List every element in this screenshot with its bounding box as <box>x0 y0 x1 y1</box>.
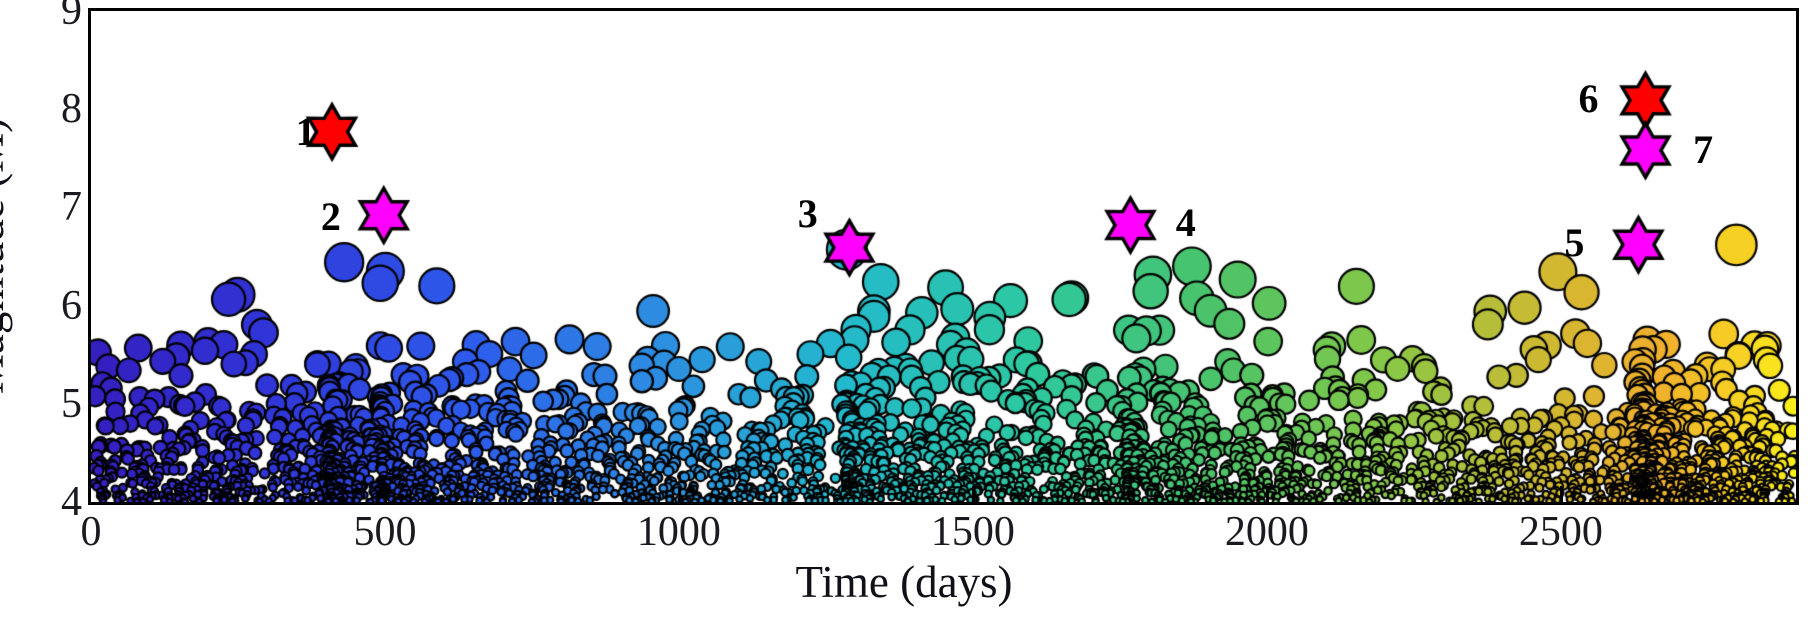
x-tick-label-1500: 1500 <box>931 511 1015 553</box>
annotation-label-1: 1 <box>296 112 316 152</box>
x-tick-label-2500: 2500 <box>1519 511 1603 553</box>
plot-area <box>88 8 1799 505</box>
annotation-label-4: 4 <box>1176 203 1196 243</box>
chart-figure: Magnitude (M) 456789 0500100015002000250… <box>0 0 1809 624</box>
annotation-label-7: 7 <box>1693 130 1713 170</box>
x-tick-mark <box>972 486 975 502</box>
x-tick-label-0: 0 <box>81 511 102 553</box>
x-tick-mark <box>384 486 387 502</box>
y-tick-label-5: 5 <box>61 383 82 425</box>
x-axis-title: Time (days) <box>795 556 1012 608</box>
x-tick-mark <box>1266 486 1269 502</box>
x-tick-mark <box>678 486 681 502</box>
x-tick-mark <box>1560 486 1563 502</box>
x-tick-label-1000: 1000 <box>637 511 721 553</box>
y-tick-label-4: 4 <box>61 481 82 523</box>
y-axis-title: Magnitude (M) <box>0 118 14 394</box>
x-tick-label-2000: 2000 <box>1225 511 1309 553</box>
y-tick-label-6: 6 <box>61 285 82 327</box>
y-tick-label-9: 9 <box>61 0 82 32</box>
y-tick-label-8: 8 <box>61 88 82 130</box>
annotation-label-2: 2 <box>321 197 341 237</box>
y-tick-label-7: 7 <box>61 186 82 228</box>
annotation-label-3: 3 <box>798 194 818 234</box>
annotation-label-6: 6 <box>1578 79 1598 119</box>
annotation-label-5: 5 <box>1564 223 1584 263</box>
scatter-points-layer <box>91 11 1796 502</box>
x-tick-label-500: 500 <box>353 511 416 553</box>
